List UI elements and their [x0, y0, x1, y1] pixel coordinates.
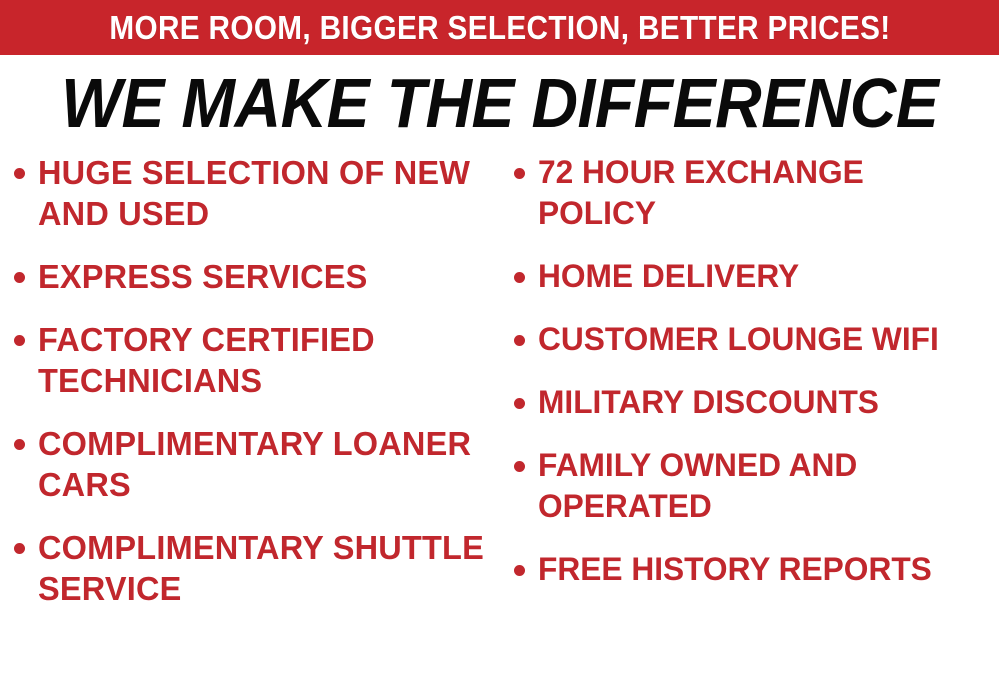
list-item: EXPRESS SERVICES — [14, 256, 496, 297]
bullet-dot-icon — [14, 168, 25, 179]
list-item-label: 72 HOUR EXCHANGE POLICY — [538, 152, 987, 234]
list-item-label: FACTORY CERTIFIED TECHNICIANS — [38, 319, 489, 401]
list-item-label: COMPLIMENTARY LOANER CARS — [38, 423, 489, 505]
list-item-label: HUGE SELECTION OF NEW AND USED — [38, 152, 489, 234]
bullet-dot-icon — [514, 398, 525, 409]
dealership-promo-banner: MORE ROOM, BIGGER SELECTION, BETTER PRIC… — [0, 0, 999, 692]
bullet-dot-icon — [14, 335, 25, 346]
list-item: CUSTOMER LOUNGE WIFI — [514, 319, 999, 360]
list-item: HUGE SELECTION OF NEW AND USED — [14, 152, 496, 234]
promo-ribbon: MORE ROOM, BIGGER SELECTION, BETTER PRIC… — [0, 0, 999, 55]
list-item-label: CUSTOMER LOUNGE WIFI — [538, 319, 939, 360]
list-item-label: FREE HISTORY REPORTS — [538, 549, 932, 590]
headline-container: WE MAKE THE DIFFERENCE — [0, 64, 999, 142]
list-item: FACTORY CERTIFIED TECHNICIANS — [14, 319, 496, 401]
list-item: HOME DELIVERY — [514, 256, 999, 297]
bullet-dot-icon — [514, 565, 525, 576]
list-item: COMPLIMENTARY LOANER CARS — [14, 423, 496, 505]
bullet-dot-icon — [514, 461, 525, 472]
bullet-dot-icon — [14, 543, 25, 554]
benefits-column-right: 72 HOUR EXCHANGE POLICY HOME DELIVERY CU… — [500, 152, 999, 612]
page-title: WE MAKE THE DIFFERENCE — [61, 67, 938, 139]
bullet-dot-icon — [14, 439, 25, 450]
list-item: FAMILY OWNED AND OPERATED — [514, 445, 999, 527]
list-item-label: MILITARY DISCOUNTS — [538, 382, 879, 423]
list-item: 72 HOUR EXCHANGE POLICY — [514, 152, 999, 234]
promo-ribbon-text: MORE ROOM, BIGGER SELECTION, BETTER PRIC… — [109, 11, 890, 45]
list-item-label: FAMILY OWNED AND OPERATED — [538, 445, 987, 527]
bullet-dot-icon — [514, 272, 525, 283]
bullet-dot-icon — [514, 335, 525, 346]
list-item: MILITARY DISCOUNTS — [514, 382, 999, 423]
benefits-column-left: HUGE SELECTION OF NEW AND USED EXPRESS S… — [0, 152, 500, 631]
benefits-columns: HUGE SELECTION OF NEW AND USED EXPRESS S… — [0, 152, 999, 692]
bullet-dot-icon — [514, 168, 525, 179]
list-item-label: COMPLIMENTARY SHUTTLE SERVICE — [38, 527, 489, 609]
bullet-dot-icon — [14, 272, 25, 283]
list-item: COMPLIMENTARY SHUTTLE SERVICE — [14, 527, 496, 609]
list-item: FREE HISTORY REPORTS — [514, 549, 999, 590]
list-item-label: HOME DELIVERY — [538, 256, 799, 297]
list-item-label: EXPRESS SERVICES — [38, 256, 368, 297]
